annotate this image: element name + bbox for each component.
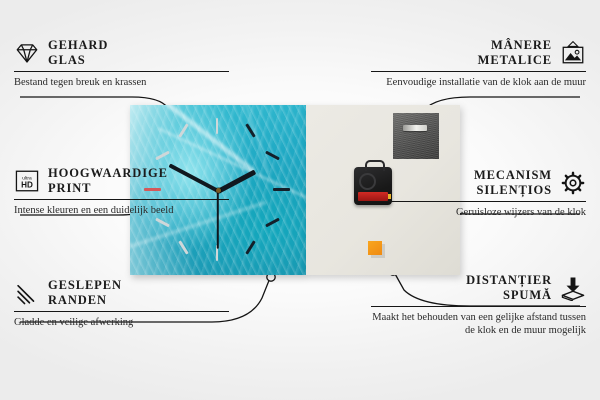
clock-tick-3 <box>273 188 290 191</box>
feature-header: MECANISM SILENȚIOS <box>371 168 586 198</box>
foam-spacer <box>368 241 382 255</box>
diagonal-edges-icon <box>14 280 40 306</box>
feature-description: Bestand tegen breuk en krassen <box>14 76 229 89</box>
svg-text:HD: HD <box>21 181 33 190</box>
feature-divider <box>14 199 229 200</box>
framed-picture-icon <box>560 40 586 66</box>
clock-tick-12 <box>216 118 218 134</box>
feature-header: DISTANȚIER SPUMĂ <box>371 273 586 303</box>
feature-description: Maakt het behouden van een gelijke afsta… <box>371 311 586 337</box>
feature-title-line1: GESLEPEN <box>48 278 122 293</box>
feature-header: ultra HD HOOGWAARDIGE PRINT <box>14 166 229 196</box>
feature-divider <box>371 71 586 72</box>
feature-title-line2: PRINT <box>48 181 168 196</box>
spacer-stack-icon <box>560 275 586 301</box>
feature-manere-metalice: MÂNERE METALICE Eenvoudige installatie v… <box>371 38 586 89</box>
feature-distantier-spuma: DISTANȚIER SPUMĂ Maakt het behouden van … <box>371 273 586 337</box>
infographic-canvas: GEHARD GLAS Bestand tegen breuk en krass… <box>0 0 600 400</box>
metal-hanger-plate <box>393 113 439 159</box>
feature-header: MÂNERE METALICE <box>371 38 586 68</box>
feature-title-line1: GEHARD <box>48 38 108 53</box>
feature-title-line2: RANDEN <box>48 293 122 308</box>
feature-title-line2: GLAS <box>48 53 108 68</box>
feature-divider <box>371 306 586 307</box>
feature-title-line1: MÂNERE <box>478 38 552 53</box>
ultra-hd-icon: ultra HD <box>14 168 40 194</box>
feature-title-line2: SPUMĂ <box>466 288 552 303</box>
feature-mecanism-silentios: MECANISM SILENȚIOS Geruisloze wijzers va… <box>371 168 586 219</box>
feature-divider <box>14 311 229 312</box>
feature-title-line1: MECANISM <box>474 168 552 183</box>
feature-description: Gladde en veilige afwerking <box>14 316 229 329</box>
feature-title-line1: HOOGWAARDIGE <box>48 166 168 181</box>
feature-title-line1: DISTANȚIER <box>466 273 552 288</box>
feature-gehard-glas: GEHARD GLAS Bestand tegen breuk en krass… <box>14 38 229 89</box>
feature-title-line2: METALICE <box>478 53 552 68</box>
feature-header: GESLEPEN RANDEN <box>14 278 229 308</box>
diamond-icon <box>14 40 40 66</box>
feature-hoogwaardige-print: ultra HD HOOGWAARDIGE PRINT Intense kleu… <box>14 166 229 217</box>
feature-description: Intense kleuren en een duidelijk beeld <box>14 204 229 217</box>
feature-description: Geruisloze wijzers van de klok <box>371 206 586 219</box>
feature-divider <box>14 71 229 72</box>
feature-divider <box>371 201 586 202</box>
gear-icon <box>560 170 586 196</box>
feature-header: GEHARD GLAS <box>14 38 229 68</box>
feature-geslepen-randen: GESLEPEN RANDEN Gladde en veilige afwerk… <box>14 278 229 329</box>
feature-description: Eenvoudige installatie van de klok aan d… <box>371 76 586 89</box>
hanger-slot <box>403 125 427 131</box>
feature-title-line2: SILENȚIOS <box>474 183 552 198</box>
